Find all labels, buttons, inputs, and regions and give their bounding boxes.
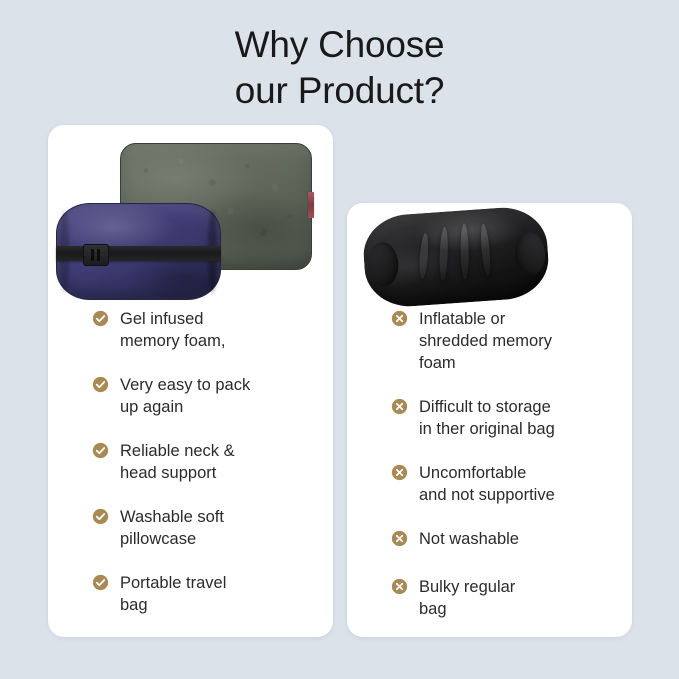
bag-buckle: [83, 244, 109, 266]
list-item-label: Inflatable or shredded memory foam: [391, 308, 552, 374]
list-item: Bulky regular bag: [347, 576, 632, 620]
page-title-line-1: Why Choose: [0, 22, 679, 68]
list-item: Very easy to pack up again: [48, 374, 333, 418]
list-item: Uncomfortable and not supportive: [347, 462, 632, 506]
page-title: Why Choose our Product?: [0, 22, 679, 114]
cross-icon: [391, 398, 408, 415]
page-title-line-2: our Product?: [0, 68, 679, 114]
cross-icon: [391, 530, 408, 547]
pillow-lobe-left: [367, 241, 400, 287]
list-item: Portable travel bag: [48, 572, 333, 616]
list-item-label: Gel infused memory foam,: [92, 308, 225, 352]
check-icon: [92, 442, 109, 459]
list-item: Reliable neck & head support: [48, 440, 333, 484]
pros-card: Gel infused memory foam, Very easy to pa…: [48, 125, 333, 637]
list-item-label: Reliable neck & head support: [92, 440, 235, 484]
list-item: Inflatable or shredded memory foam: [347, 308, 632, 374]
list-item-label: Portable travel bag: [92, 572, 226, 616]
list-item: Difficult to storage in ther original ba…: [347, 396, 632, 440]
cons-card: Inflatable or shredded memory foam Diffi…: [347, 203, 632, 637]
check-icon: [92, 376, 109, 393]
brand-tag: [308, 192, 314, 218]
pillow-baffle: [479, 224, 492, 276]
inflatable-pillow-image: [361, 205, 551, 310]
cross-icon: [391, 310, 408, 327]
list-item-label: Very easy to pack up again: [92, 374, 250, 418]
pros-product-image: [48, 125, 333, 303]
bag-strap: [56, 246, 221, 261]
cross-icon: [391, 578, 408, 595]
list-item-label: Bulky regular bag: [391, 576, 515, 620]
list-item: Washable soft pillowcase: [48, 506, 333, 550]
list-item: Not washable: [347, 528, 632, 554]
list-item-label: Difficult to storage in ther original ba…: [391, 396, 555, 440]
list-item: Gel infused memory foam,: [48, 308, 333, 352]
pillow-baffle: [460, 223, 469, 279]
pillow-baffle: [418, 233, 429, 279]
check-icon: [92, 508, 109, 525]
list-item-label: Not washable: [391, 528, 519, 550]
check-icon: [92, 310, 109, 327]
cons-feature-list: Inflatable or shredded memory foam Diffi…: [347, 308, 632, 637]
pros-feature-list: Gel infused memory foam, Very easy to pa…: [48, 308, 333, 637]
check-icon: [92, 574, 109, 591]
list-item-label: Uncomfortable and not supportive: [391, 462, 555, 506]
pillow-lobe-right: [513, 231, 546, 277]
cons-product-image: [347, 203, 632, 303]
pillow-baffle: [439, 227, 449, 281]
cross-icon: [391, 464, 408, 481]
list-item-label: Washable soft pillowcase: [92, 506, 224, 550]
inflatable-pillow-body: [361, 205, 551, 310]
navy-travel-bag-image: [56, 203, 221, 300]
